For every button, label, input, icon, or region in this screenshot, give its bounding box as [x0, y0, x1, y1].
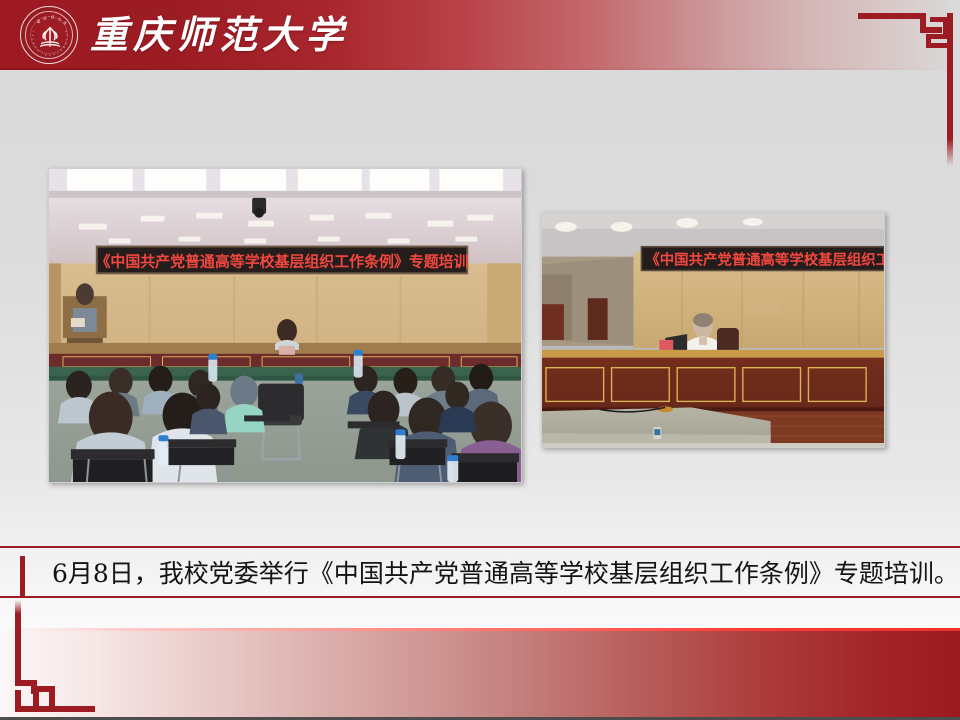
svg-text:庆: 庆 — [43, 15, 47, 20]
svg-text:N: N — [53, 54, 55, 56]
photo-speaker-at-podium: 《中国共产党普通高等学校基层组织工作 — [541, 212, 885, 448]
svg-text:L: L — [66, 39, 68, 41]
svg-text:师: 师 — [51, 15, 55, 20]
svg-text:I: I — [42, 53, 43, 55]
svg-text:C: C — [33, 31, 35, 33]
caption-accent-tick — [20, 556, 25, 598]
svg-text:O: O — [32, 39, 34, 41]
svg-text:大: 大 — [58, 17, 62, 22]
caption-text: 6月8日，我校党委举行《中国共产党普通高等学校基层组织工作条例》专题培训。 — [52, 552, 942, 596]
university-name-title: 重庆师范大学 — [90, 6, 348, 64]
seal-emblem-icon: 重 庆 师 大 学 CHO NGQ ING NOR MAL UN — [21, 7, 79, 65]
footer-band — [0, 631, 960, 717]
svg-text:N: N — [65, 31, 67, 33]
led-banner-text-1: 《中国共产党普通高等学校基层组织工作条例》专题培训 — [95, 252, 468, 270]
photo-training-audience-image: 《中国共产党普通高等学校基层组织工作条例》专题培训 — [49, 169, 521, 482]
svg-text:O: O — [57, 53, 59, 55]
photo-speaker-at-podium-image: 《中国共产党普通高等学校基层组织工作 — [542, 213, 884, 447]
svg-text:M: M — [63, 47, 65, 49]
svg-text:G: G — [35, 47, 37, 49]
header-band: 重 庆 师 大 学 CHO NGQ ING NOR MAL UN 重庆师范大学 — [0, 0, 960, 70]
svg-text:Q: Q — [38, 51, 40, 53]
svg-text:U: U — [66, 35, 68, 37]
svg-text:R: R — [61, 50, 63, 52]
svg-text:重: 重 — [37, 19, 41, 24]
led-banner-text-2: 《中国共产党普通高等学校基层组织工作 — [645, 251, 884, 269]
corner-ornament-bottom-left — [0, 600, 115, 720]
caption-rule-bottom — [0, 596, 960, 598]
svg-text:N: N — [33, 43, 35, 45]
university-seal-icon: 重 庆 师 大 学 CHO NGQ ING NOR MAL UN — [20, 6, 78, 64]
svg-text:A: A — [65, 42, 67, 45]
caption-rule-top — [0, 546, 960, 548]
svg-text:N: N — [45, 54, 47, 56]
slide-canvas: 重 庆 师 大 学 CHO NGQ ING NOR MAL UN 重庆师范大学 — [0, 0, 960, 720]
svg-text:H: H — [32, 35, 34, 37]
photo-training-audience: 《中国共产党普通高等学校基层组织工作条例》专题培训 — [48, 168, 522, 483]
corner-ornament-top-right — [850, 0, 960, 170]
svg-text:G: G — [49, 55, 51, 57]
svg-text:学: 学 — [63, 20, 67, 25]
